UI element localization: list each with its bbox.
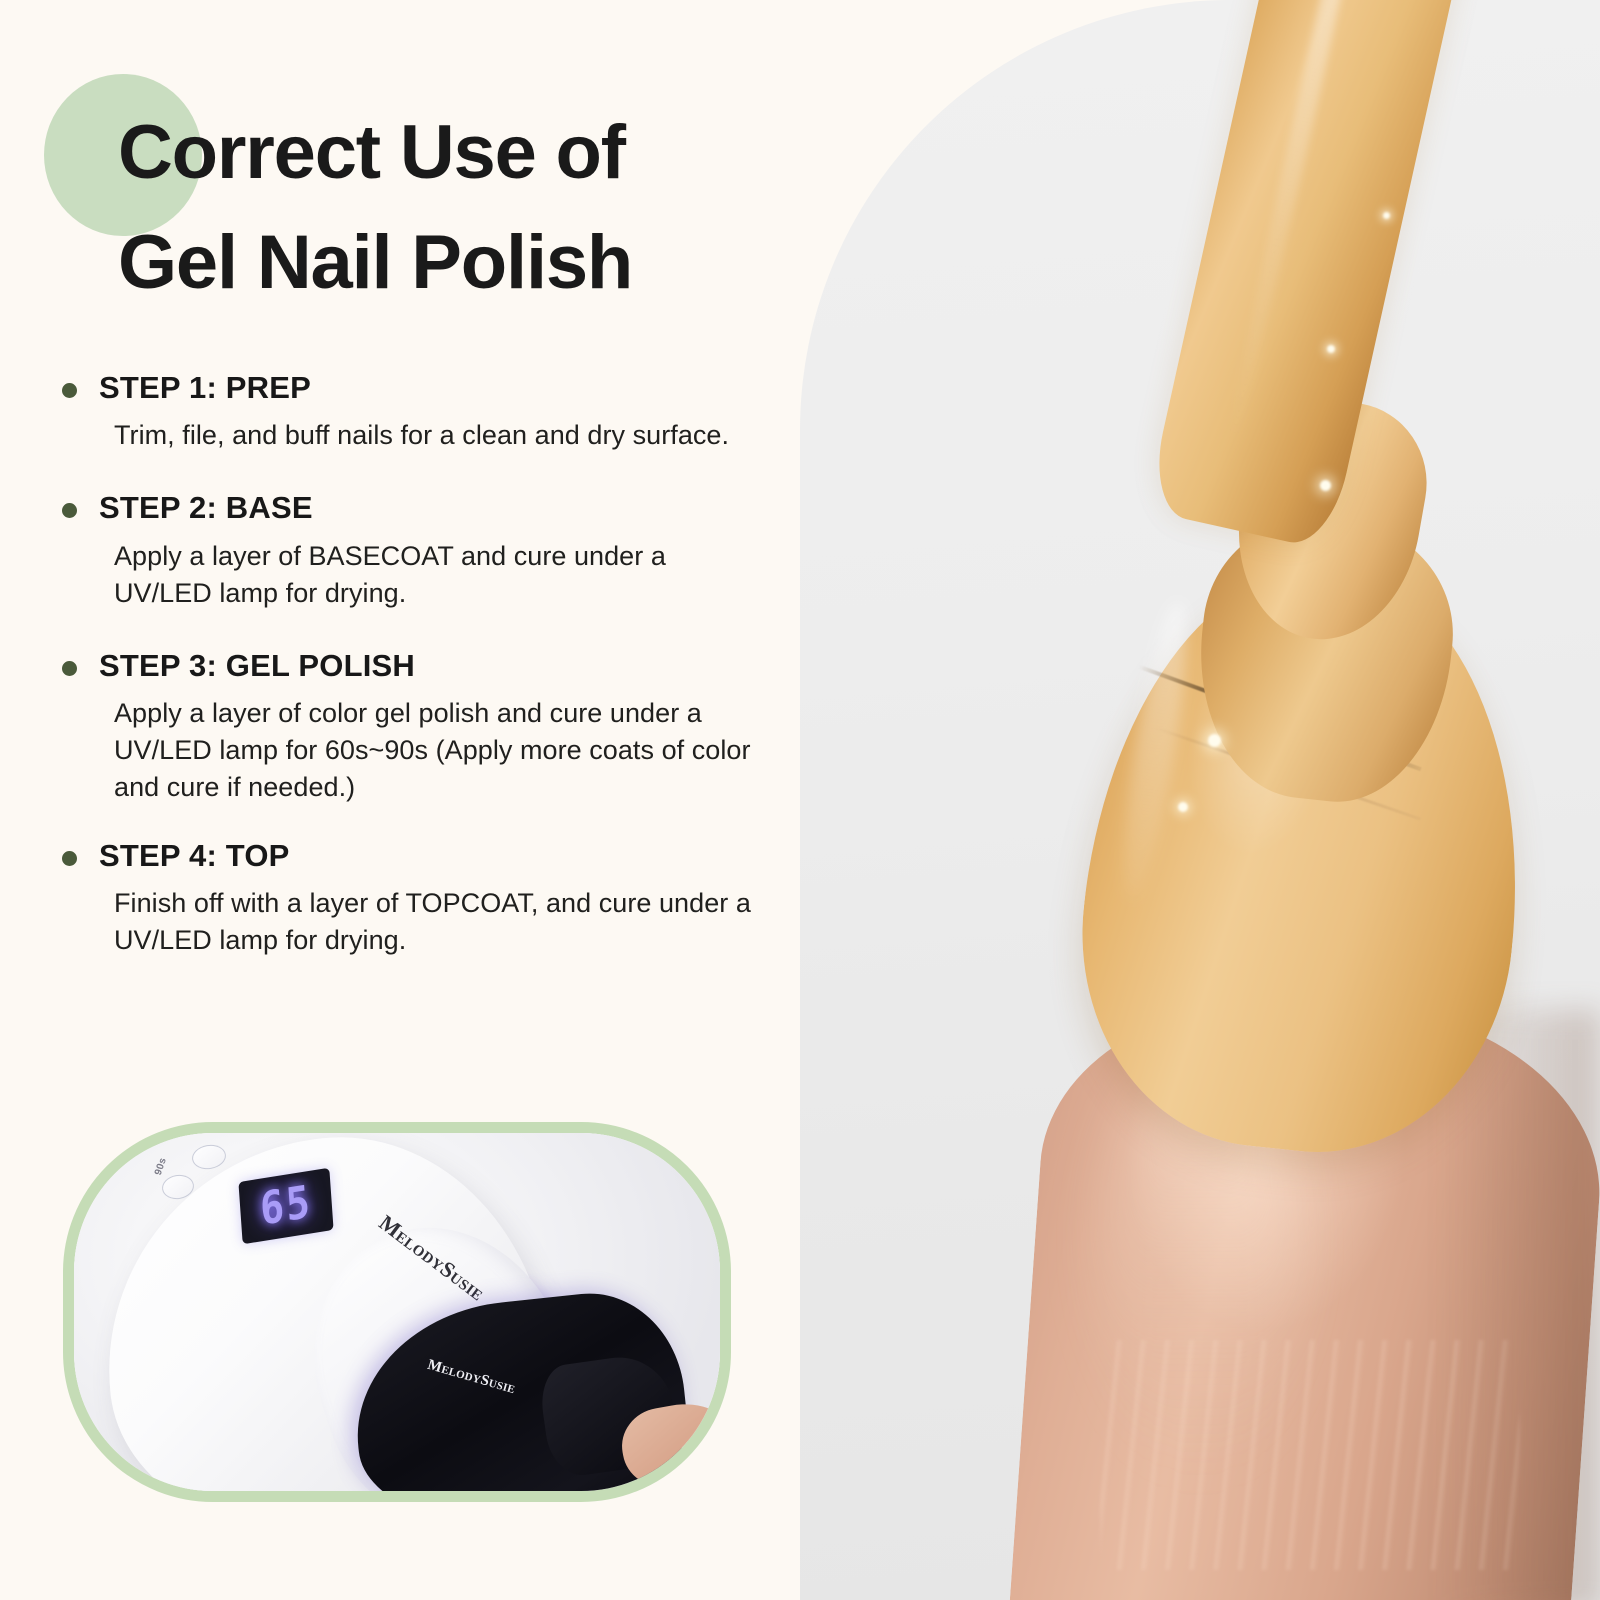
step-3-body: Apply a layer of color gel polish and cu… — [114, 695, 762, 806]
step-4-body: Finish off with a layer of TOPCOAT, and … — [114, 885, 762, 959]
page-title-line-2: Gel Nail Polish — [118, 208, 808, 318]
specular-highlight — [1383, 212, 1390, 219]
step-3-heading-row: STEP 3: GEL POLISH — [62, 646, 762, 686]
specular-highlight — [1320, 480, 1331, 491]
uv-lamp-inset-photo: 65 90s MelodySusie MelodySusie — [63, 1122, 731, 1502]
step-1-title: STEP 1: PREP — [99, 368, 311, 408]
uv-lamp-timer-button[interactable] — [190, 1142, 227, 1171]
polish-brush-handle — [1146, 0, 1503, 551]
specular-highlight — [1327, 345, 1335, 353]
step-item-4: STEP 4: TOP Finish off with a layer of T… — [62, 836, 762, 959]
bullet-icon — [62, 851, 77, 866]
uv-lamp-timer-value: 65 — [258, 1176, 313, 1236]
uv-lamp-90s-button-label: 90s — [153, 1156, 169, 1176]
page-title-line-1: Correct Use of — [118, 98, 808, 208]
bullet-icon — [62, 503, 77, 518]
page-title: Correct Use of Gel Nail Polish — [118, 98, 808, 318]
step-4-heading-row: STEP 4: TOP — [62, 836, 762, 876]
finger-shadow — [1440, 1010, 1600, 1600]
steps-list: STEP 1: PREP Trim, file, and buff nails … — [62, 368, 762, 965]
left-content-column: Correct Use of Gel Nail Polish STEP 1: P… — [0, 0, 800, 1600]
step-2-body: Apply a layer of BASECOAT and cure under… — [114, 538, 762, 612]
bullet-icon — [62, 661, 77, 676]
step-2-title: STEP 2: BASE — [99, 488, 313, 528]
specular-highlight — [1208, 734, 1221, 747]
step-item-1: STEP 1: PREP Trim, file, and buff nails … — [62, 368, 762, 454]
bullet-icon — [62, 383, 77, 398]
step-item-3: STEP 3: GEL POLISH Apply a layer of colo… — [62, 646, 762, 806]
step-1-heading-row: STEP 1: PREP — [62, 368, 762, 408]
step-3-title: STEP 3: GEL POLISH — [99, 646, 415, 686]
step-1-body: Trim, file, and buff nails for a clean a… — [114, 417, 762, 454]
step-item-2: STEP 2: BASE Apply a layer of BASECOAT a… — [62, 488, 762, 611]
gel-polish-application-photo — [800, 0, 1600, 1600]
uv-lamp-photo-background: 65 90s MelodySusie MelodySusie — [74, 1133, 720, 1491]
specular-highlight — [1178, 802, 1188, 812]
step-2-heading-row: STEP 2: BASE — [62, 488, 762, 528]
step-4-title: STEP 4: TOP — [99, 836, 290, 876]
